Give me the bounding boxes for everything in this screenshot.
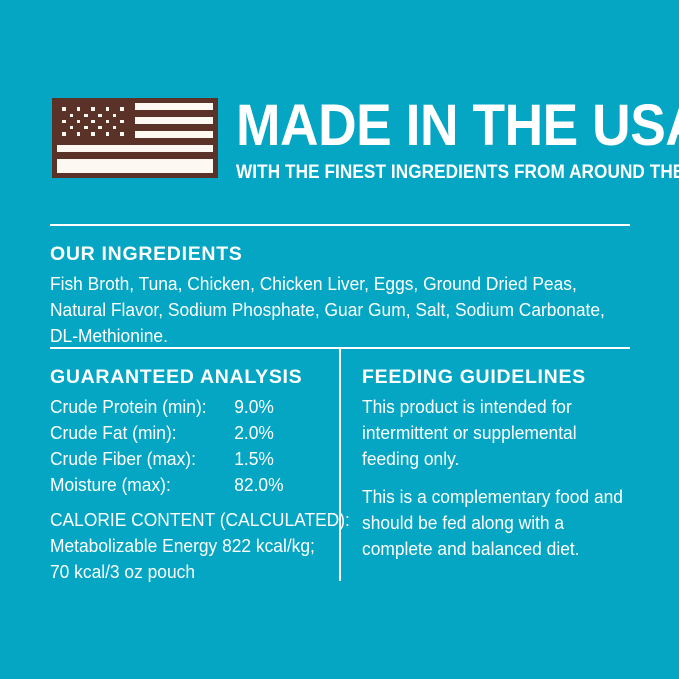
feeding-guidelines-paragraph-2: This is a complementary food and should …: [362, 484, 630, 562]
flag-stripe: [57, 166, 213, 173]
flag-star: [70, 114, 74, 118]
analysis-label: Moisture (max):: [50, 472, 234, 498]
made-in-usa-header: MADE IN THE USA WITH THE FINEST INGREDIE…: [50, 96, 636, 186]
feeding-guidelines-paragraph-1: This product is intended for intermitten…: [362, 394, 630, 472]
divider-top: [50, 224, 630, 226]
flag-star: [113, 114, 117, 118]
calorie-content-line-1: Metabolizable Energy 822 kcal/kg;: [50, 533, 318, 559]
page-subtitle: WITH THE FINEST INGREDIENTS FROM AROUND …: [236, 156, 588, 183]
flag-star: [113, 126, 117, 130]
table-row: Crude Protein (min): 9.0%: [50, 394, 332, 420]
page-title: MADE IN THE USA: [236, 96, 604, 156]
flag-star: [77, 120, 81, 124]
table-row: Crude Fat (min): 2.0%: [50, 420, 332, 446]
calorie-content-line-2: 70 kcal/3 oz pouch: [50, 559, 318, 585]
feeding-guidelines-section: FEEDING GUIDELINES This product is inten…: [362, 366, 632, 562]
ingredients-text: Fish Broth, Tuna, Chicken, Chicken Liver…: [50, 271, 633, 349]
flag-star: [98, 114, 102, 118]
flag-star: [77, 107, 81, 111]
analysis-value: 9.0%: [234, 394, 332, 420]
flag-star: [84, 126, 88, 130]
calorie-content-heading: CALORIE CONTENT (CALCULATED):: [50, 507, 318, 533]
flag-star: [106, 132, 110, 136]
guaranteed-analysis-table: Crude Protein (min): 9.0% Crude Fat (min…: [50, 394, 332, 498]
analysis-label: Crude Protein (min):: [50, 394, 234, 420]
analysis-value: 1.5%: [234, 446, 332, 472]
feeding-guidelines-heading: FEEDING GUIDELINES: [362, 366, 632, 388]
header-text-block: MADE IN THE USA WITH THE FINEST INGREDIE…: [236, 96, 636, 183]
flag-stripe: [135, 117, 213, 124]
analysis-label: Crude Fiber (max):: [50, 446, 234, 472]
flag-star: [91, 107, 95, 111]
flag-star: [91, 132, 95, 136]
flag-star-field: [57, 103, 129, 140]
flag-star: [120, 107, 124, 111]
flag-star: [84, 114, 88, 118]
usa-flag-icon: [52, 98, 218, 178]
flag-star: [106, 107, 110, 111]
ingredients-heading: OUR INGREDIENTS: [50, 243, 640, 265]
guaranteed-analysis-heading: GUARANTEED ANALYSIS: [50, 366, 335, 388]
flag-star: [120, 120, 124, 124]
flag-star: [106, 120, 110, 124]
analysis-value: 82.0%: [234, 472, 332, 498]
table-row: Crude Fiber (max): 1.5%: [50, 446, 332, 472]
flag-star: [62, 120, 66, 124]
product-label-panel: MADE IN THE USA WITH THE FINEST INGREDIE…: [0, 0, 679, 679]
flag-star: [77, 132, 81, 136]
flag-star: [62, 107, 66, 111]
calorie-content-block: CALORIE CONTENT (CALCULATED): Metaboliza…: [50, 507, 335, 585]
analysis-label: Crude Fat (min):: [50, 420, 234, 446]
flag-stripe: [57, 145, 213, 152]
flag-star: [91, 120, 95, 124]
flag-stripe: [135, 103, 213, 110]
flag-stripe: [135, 131, 213, 138]
analysis-value: 2.0%: [234, 420, 332, 446]
divider-vertical: [339, 349, 341, 581]
ingredients-section: OUR INGREDIENTS Fish Broth, Tuna, Chicke…: [50, 243, 640, 349]
flag-star: [62, 132, 66, 136]
guaranteed-analysis-section: GUARANTEED ANALYSIS Crude Protein (min):…: [50, 366, 335, 585]
flag-star: [120, 132, 124, 136]
flag-star: [70, 126, 74, 130]
flag-stripe: [57, 159, 213, 166]
table-row: Moisture (max): 82.0%: [50, 472, 332, 498]
flag-star: [98, 126, 102, 130]
